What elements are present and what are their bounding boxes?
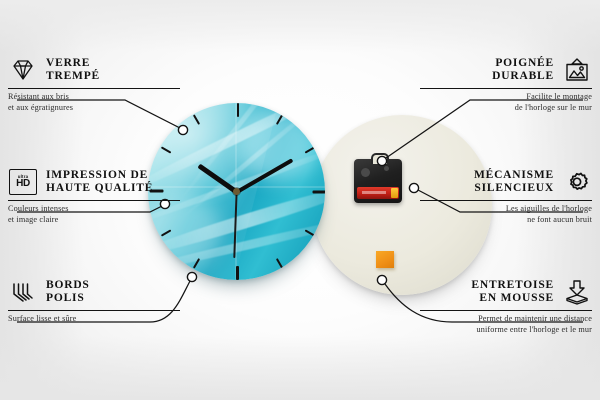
callout-desc-line2: et aux égratignures [8,103,73,112]
callout-description: Les aiguilles de l'horloge ne font aucun… [420,204,592,225]
callout-bords-polis: BORDS POLIS Surface lisse et sûre [8,278,180,325]
callout-title: ENTRETOISE EN MOUSSE [471,279,554,304]
callout-verre-trempe: VERRE TREMPÉ Résistant aux bris et aux é… [8,56,180,113]
callout-title: BORDS POLIS [46,279,90,304]
callout-header: VERRE TREMPÉ [8,56,180,84]
callout-desc-line1: Les aiguilles de l'horloge [506,204,592,213]
callout-title-line1: BORDS [46,279,90,291]
foam-spacer [376,251,394,268]
mechanism-screw [384,166,389,171]
callout-title: MÉCANISME SILENCIEUX [474,169,554,194]
callout-header: POIGNÉE DURABLE [420,56,592,84]
callout-title: POIGNÉE DURABLE [492,57,554,82]
callout-title-line1: VERRE [46,57,90,69]
aa-battery [357,187,399,199]
callout-desc-line2: uniforme entre l'horloge et le mur [477,325,592,334]
quartz-mechanism [354,159,402,203]
callout-divider [420,310,592,311]
ultra-hd-main-text: HD [16,179,30,189]
callout-description: Permet de maintenir une distance uniform… [420,314,592,335]
callout-description: Résistant aux bris et aux égratignures [8,92,180,113]
callout-title-line1: POIGNÉE [495,57,554,69]
spacer-arrow-icon [562,278,592,306]
callout-mecanisme-silencieux: MÉCANISME SILENCIEUX Les aiguilles de l'… [420,168,592,225]
product-infographic: VERRE TREMPÉ Résistant aux bris et aux é… [0,0,600,400]
clock-center-cap [233,188,240,195]
clock-tick [237,103,239,192]
callout-divider [8,200,180,201]
callout-title: VERRE TREMPÉ [46,57,100,82]
callout-desc-line2: et image claire [8,215,58,224]
callout-divider [420,200,592,201]
callout-title-line1: IMPRESSION DE [46,169,148,181]
hanging-frame-icon [562,56,592,84]
callout-desc-line1: Surface lisse et sûre [8,314,76,323]
callout-title: IMPRESSION DE HAUTE QUALITÉ [46,169,153,194]
callout-desc-line1: Facilite le montage [526,92,592,101]
ultra-hd-icon: ultra HD [8,168,38,196]
callout-title-line2: DURABLE [492,70,554,82]
diamond-icon [8,56,38,84]
callout-title-line2: HAUTE QUALITÉ [46,182,153,194]
callout-title-line2: EN MOUSSE [479,292,554,304]
callout-desc-line1: Permet de maintenir une distance [478,314,592,323]
callout-title-line2: SILENCIEUX [474,182,554,194]
battery-positive-terminal [391,188,398,198]
callout-header: BORDS POLIS [8,278,180,306]
callout-divider [8,310,180,311]
callout-divider [8,88,180,89]
callout-title-line2: POLIS [46,292,85,304]
callout-impression-haute-qualite: ultra HD IMPRESSION DE HAUTE QUALITÉ Cou… [8,168,180,225]
callout-desc-line1: Couleurs intenses [8,204,69,213]
callout-description: Couleurs intenses et image claire [8,204,180,225]
battery-stripe [362,191,386,194]
gear-icon [562,168,592,196]
callout-description: Facilite le montage de l'horloge sur le … [420,92,592,113]
callout-divider [420,88,592,89]
callout-poignee-durable: POIGNÉE DURABLE Facilite le montage de l… [420,56,592,113]
callout-description: Surface lisse et sûre [8,314,180,324]
callout-desc-line2: ne font aucun bruit [527,215,592,224]
hanger-loop-icon [371,153,389,164]
callout-title-line1: ENTRETOISE [471,279,554,291]
callout-title-line1: MÉCANISME [474,169,554,181]
callout-entretoise-en-mousse: ENTRETOISE EN MOUSSE Permet de maintenir… [420,278,592,335]
callout-desc-line1: Résistant aux bris [8,92,69,101]
callout-header: MÉCANISME SILENCIEUX [420,168,592,196]
callout-desc-line2: de l'horloge sur le mur [515,103,592,112]
callout-title-line2: TREMPÉ [46,70,100,82]
mechanism-dial [361,168,370,177]
callout-header: ENTRETOISE EN MOUSSE [420,278,592,306]
clock-tick [238,191,326,193]
ultra-hd-badge: ultra HD [9,169,37,195]
polished-edges-icon [8,278,38,306]
callout-header: ultra HD IMPRESSION DE HAUTE QUALITÉ [8,168,180,196]
